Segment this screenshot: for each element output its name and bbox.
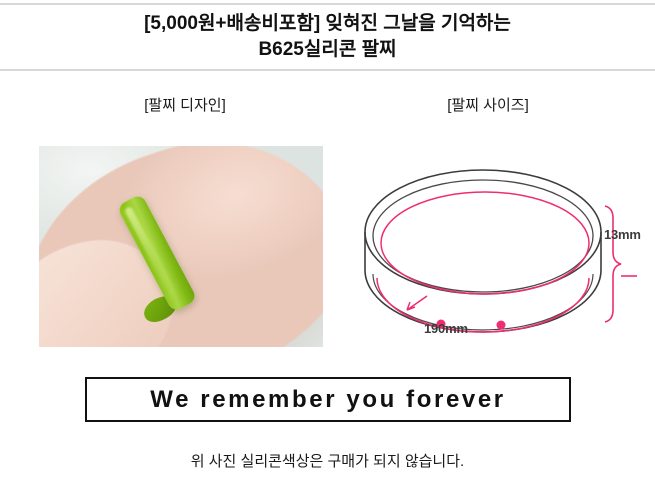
ring-inner-pink-ellipse (381, 192, 589, 294)
slogan-box: We remember you forever (85, 377, 571, 422)
page-title-line-1: [5,000원+배송비포함] 잊혀진 그날을 기억하는 (144, 11, 511, 37)
slogan-text: We remember you forever (150, 386, 505, 414)
size-section-caption: [팔찌 사이즈] (413, 96, 563, 116)
circumference-dimension-label: 190mm (424, 321, 468, 336)
ring-top-inner-edge (373, 180, 593, 292)
height-dimension-bracket (605, 206, 621, 322)
design-section-caption: [팔찌 디자인] (110, 96, 260, 116)
page-title-line-2: B625실리콘 팔찌 (258, 37, 396, 63)
ring-bottom-outer-arc (365, 270, 601, 332)
page-title-banner: [5,000원+배송비포함] 잊혀진 그날을 기억하는 B625실리콘 팔찌 (0, 3, 655, 71)
bracelet-design-photo (39, 146, 323, 347)
bracelet-size-diagram (355, 150, 650, 350)
height-dimension-label: 13mm (604, 227, 641, 242)
footnote-text: 위 사진 실리콘색상은 구매가 되지 않습니다. (0, 450, 655, 471)
circumference-dot-right (497, 321, 506, 330)
ring-bottom-inner-arc (373, 274, 593, 330)
